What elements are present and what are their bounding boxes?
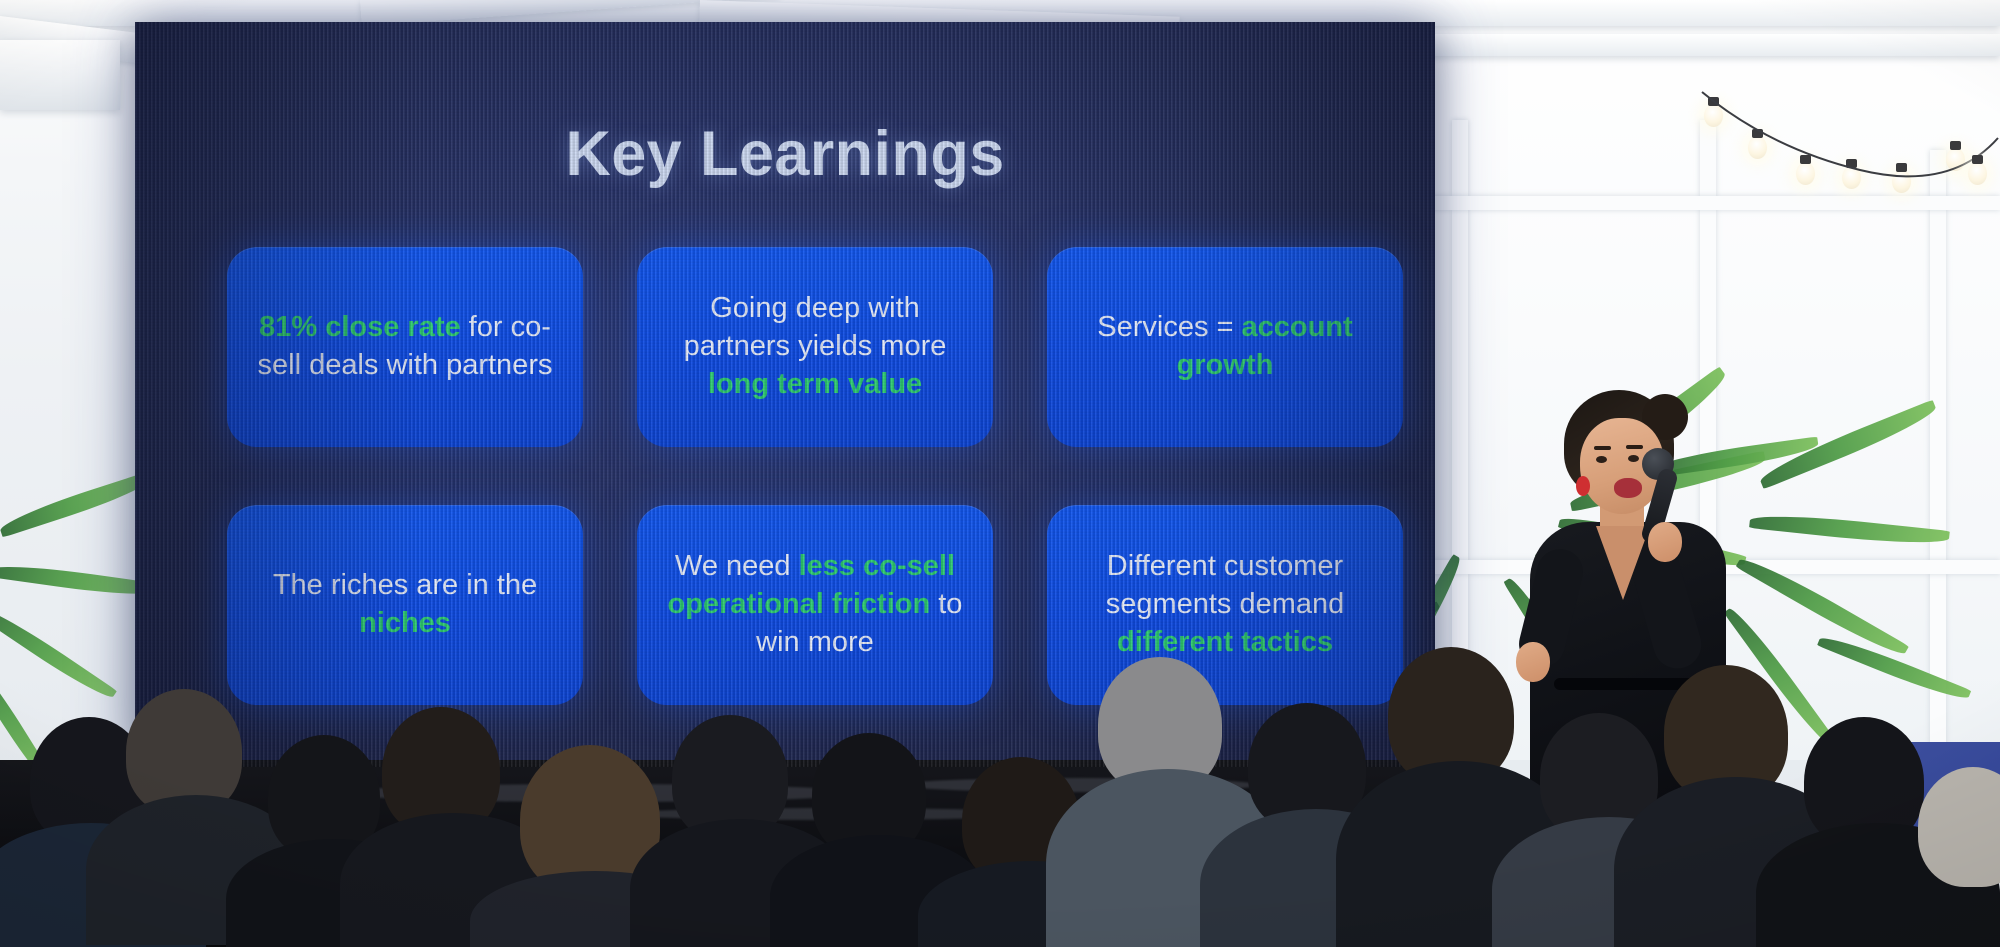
card-accent-text: niches — [359, 607, 451, 639]
ceiling-beam — [0, 40, 120, 110]
speaker-eyebrow — [1594, 446, 1611, 450]
light-bulb-icon — [1968, 162, 1987, 185]
learning-card-long-term-value: Going deep with partners yields more lon… — [637, 247, 993, 447]
card-plain-text: Going deep with partners yields more — [684, 292, 947, 362]
led-screen: Key Learnings 81% close rate for co-sell… — [135, 22, 1435, 767]
key-learnings-card-grid: 81% close rate for co-sell deals with pa… — [227, 247, 1347, 705]
palm-frond — [1749, 510, 1950, 549]
stage-reflection — [1150, 812, 1450, 822]
speaker-hand-left — [1516, 642, 1550, 682]
slide-title: Key Learnings — [135, 118, 1435, 190]
speaker-eye — [1596, 456, 1607, 463]
card-plain-text: Different customer segments demand — [1106, 550, 1345, 620]
stage-reflection — [620, 808, 1040, 820]
learning-card-text: The riches are in the niches — [227, 567, 583, 642]
learning-card-text: Going deep with partners yields more lon… — [637, 290, 993, 403]
card-accent-text: long term value — [708, 368, 922, 400]
card-accent-text: different tactics — [1117, 626, 1333, 658]
speaker-mouth — [1614, 478, 1642, 498]
learning-card-niches: The riches are in the niches — [227, 505, 583, 705]
string-lights — [1700, 20, 2000, 210]
learning-card-text: 81% close rate for co-sell deals with pa… — [227, 309, 583, 384]
stage-photo: Key Learnings 81% close rate for co-sell… — [0, 0, 2000, 947]
stage-front-skirt — [0, 760, 1440, 947]
learning-card-text: Different customer segments demand diffe… — [1047, 548, 1403, 661]
sponsor-logo-letter: m — [1917, 794, 2000, 890]
speaker-hand-holding-mic — [1648, 522, 1682, 562]
palm-frond — [0, 471, 155, 538]
presentation-slide: Key Learnings 81% close rate for co-sell… — [135, 22, 1435, 767]
card-accent-text: 81% close rate — [259, 311, 461, 343]
learning-card-different-tactics: Different customer segments demand diffe… — [1047, 505, 1403, 705]
speaker-earring — [1576, 476, 1590, 496]
sponsor-banner: m — [1873, 742, 2000, 947]
learning-card-close-rate: 81% close rate for co-sell deals with pa… — [227, 247, 583, 447]
bulb-cap — [1972, 155, 1983, 164]
speaker-presenter — [1492, 390, 1752, 810]
light-wire — [1700, 20, 2000, 210]
card-plain-text: Services = — [1097, 311, 1241, 343]
learning-card-account-growth: Services = account growth — [1047, 247, 1403, 447]
sponsor-logo-dot-green — [1896, 908, 1924, 934]
learning-card-text: We need less co-sell operational frictio… — [637, 548, 993, 661]
stage-reflection — [900, 778, 1260, 792]
speaker-dress-belt — [1554, 678, 1704, 690]
speaker-eye — [1628, 455, 1639, 462]
learning-card-text: Services = account growth — [1047, 309, 1403, 384]
card-plain-text: We need — [675, 550, 799, 582]
stage-reflection — [340, 784, 860, 802]
learning-card-operational-friction: We need less co-sell operational frictio… — [637, 505, 993, 705]
speaker-eyebrow — [1626, 445, 1643, 449]
sponsor-logo-dot-yellow — [1873, 854, 1914, 906]
palm-frond — [0, 601, 117, 704]
card-plain-text: The riches are in the — [273, 569, 537, 601]
